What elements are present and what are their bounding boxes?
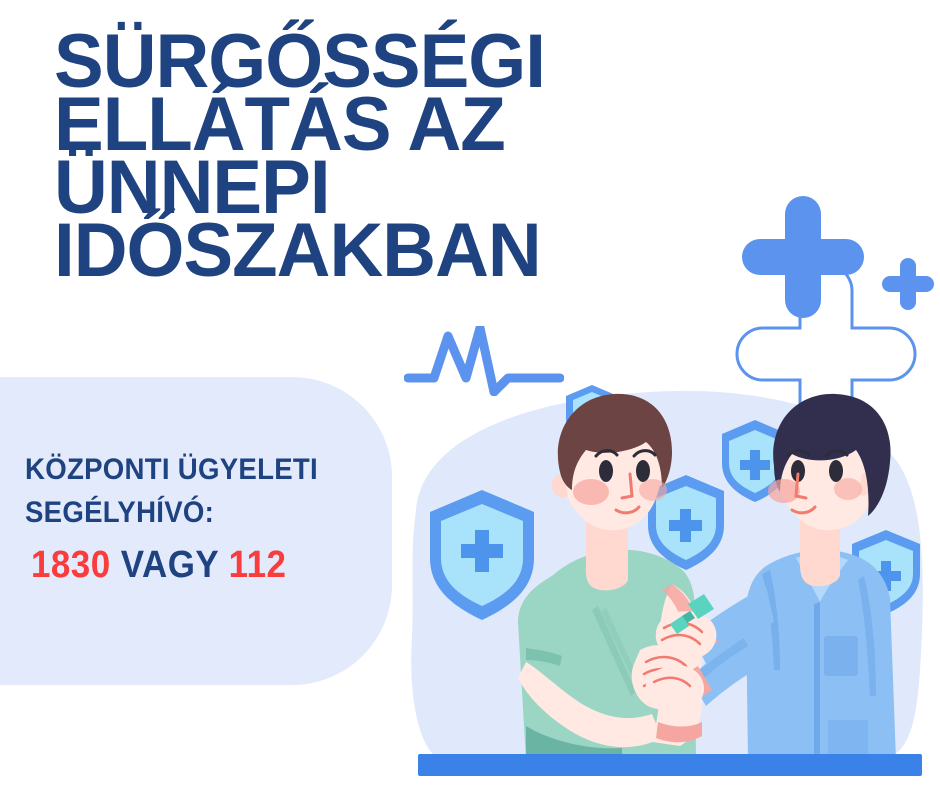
- patient-eye-left: [599, 460, 613, 482]
- doctor-hand-lower: [646, 665, 704, 711]
- phone-primary: 1830: [31, 544, 111, 586]
- patient-neck: [586, 520, 628, 590]
- emergency-info-content: KÖZPONTI ÜGYELETI SEGÉLYHÍVÓ: 1830 VAGY …: [25, 449, 385, 587]
- solid-cross-icon: [742, 196, 864, 318]
- illustration-doctor-vaccinating-patient: [400, 370, 940, 788]
- patient-cheek-left: [573, 479, 609, 505]
- small-cross-icon: [882, 258, 934, 310]
- phone-conjunction: VAGY: [121, 544, 219, 586]
- patient-eye-right: [636, 460, 650, 482]
- patient-cheek-right: [639, 479, 667, 501]
- emergency-phone-numbers[interactable]: 1830 VAGY 112: [31, 544, 357, 587]
- info-heading-line-1: KÖZPONTI ÜGYELETI: [25, 449, 356, 492]
- page-title: SÜRGŐSSÉGI ELLÁTÁS AZ ÜNNEPI IDŐSZAKBAN: [54, 30, 654, 282]
- desk-bar: [418, 754, 922, 776]
- phone-secondary: 112: [229, 544, 287, 586]
- poster-root: SÜRGŐSSÉGI ELLÁTÁS AZ ÜNNEPI IDŐSZAKBAN: [0, 0, 940, 788]
- doctor-pocket: [824, 636, 858, 676]
- doctor-cheek-right: [834, 478, 862, 500]
- doctor-eye-right: [829, 460, 843, 482]
- title-line-4: IDŐSZAKBAN: [54, 219, 642, 282]
- emergency-info-panel: KÖZPONTI ÜGYELETI SEGÉLYHÍVÓ: 1830 VAGY …: [0, 377, 392, 685]
- info-heading-line-2: SEGÉLYHÍVÓ:: [25, 492, 356, 535]
- heartbeat-line-icon: [404, 326, 564, 396]
